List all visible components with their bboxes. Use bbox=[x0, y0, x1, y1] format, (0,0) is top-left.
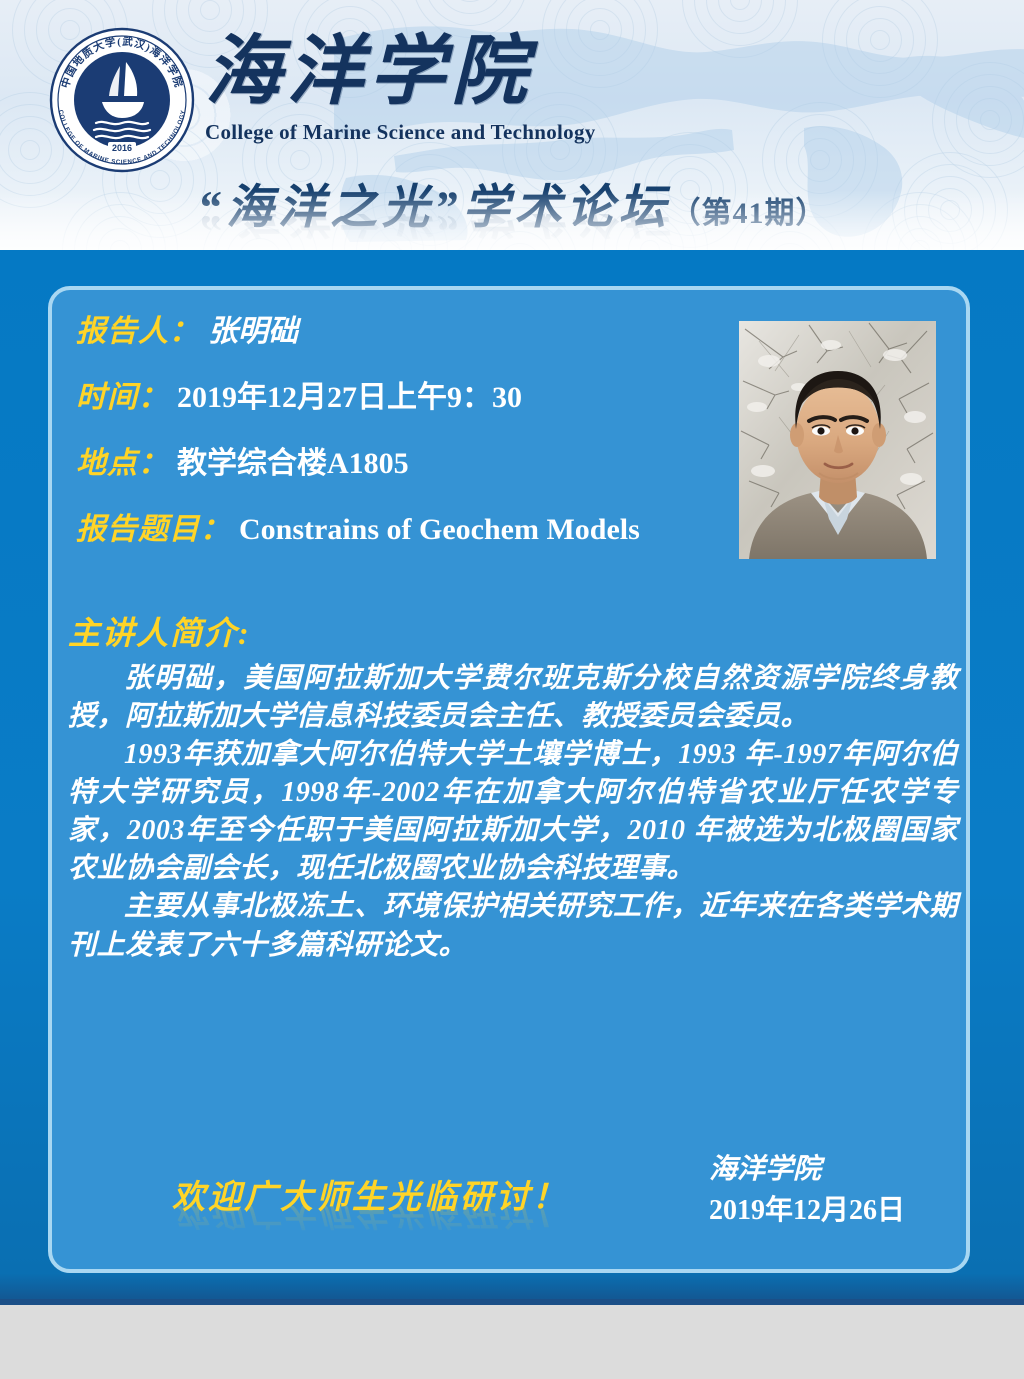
place-value: 教学综合楼A1805 bbox=[169, 438, 409, 482]
time-label: 时间： bbox=[76, 372, 169, 416]
signature-block: 海洋学院 2019年12月26日 bbox=[709, 1150, 905, 1231]
info-row-topic: 报告题目： Constrains of Geochem Models bbox=[76, 504, 716, 548]
bio-paragraph: 主要从事北极冻土、环境保护相关研究工作，近年来在各类学术期刊上发表了六十多篇科研… bbox=[68, 888, 958, 964]
header-banner: 2016 中国地质大学(武汉)海洋学院 COLLEGE OF MARINE SC… bbox=[0, 0, 1024, 250]
info-row-time: 时间： 2019年12月27日上午9：30 bbox=[76, 372, 716, 416]
banner-fade-decoration bbox=[0, 190, 1024, 250]
time-value: 2019年12月27日上午9：30 bbox=[169, 372, 522, 416]
signature-org: 海洋学院 bbox=[709, 1150, 905, 1191]
university-emblem-logo: 2016 中国地质大学(武汉)海洋学院 COLLEGE OF MARINE SC… bbox=[48, 26, 196, 174]
event-info-block: 报告人： 张明础 时间： 2019年12月27日上午9：30 地点： 教学综合楼… bbox=[76, 306, 716, 570]
seminar-poster: 2016 中国地质大学(武汉)海洋学院 COLLEGE OF MARINE SC… bbox=[0, 0, 1024, 1379]
speaker-label: 报告人： bbox=[76, 306, 200, 350]
logo-name-cn: 海洋学院 bbox=[205, 34, 685, 110]
content-panel: 报告人： 张明础 时间： 2019年12月27日上午9：30 地点： 教学综合楼… bbox=[48, 286, 970, 1273]
bio-paragraph: 1993年获加拿大阿尔伯特大学土壤学博士，1993 年-1997年阿尔伯特大学研… bbox=[68, 736, 958, 888]
logo-name-en: College of Marine Science and Technology bbox=[205, 120, 685, 145]
logo-wordmark: 海洋学院 College of Marine Science and Techn… bbox=[205, 34, 685, 145]
speaker-portrait-photo bbox=[739, 321, 936, 559]
speaker-value: 张明础 bbox=[200, 306, 298, 350]
bio-paragraph: 张明础，美国阿拉斯加大学费尔班克斯分校自然资源学院终身教授，阿拉斯加大学信息科技… bbox=[68, 660, 958, 736]
topic-label: 报告题目： bbox=[76, 504, 231, 548]
place-label: 地点： bbox=[76, 438, 169, 482]
footer-gray-area bbox=[0, 1305, 1024, 1379]
topic-value: Constrains of Geochem Models bbox=[231, 513, 640, 547]
info-row-place: 地点： 教学综合楼A1805 bbox=[76, 438, 716, 482]
speaker-bio-block: 主讲人简介: 张明础，美国阿拉斯加大学费尔班克斯分校自然资源学院终身教授，阿拉斯… bbox=[68, 608, 958, 965]
welcome-message: 欢迎广大师生光临研讨！ bbox=[172, 1170, 568, 1218]
bio-heading: 主讲人简介: bbox=[68, 608, 958, 654]
emblem-year: 2016 bbox=[112, 143, 132, 153]
info-row-speaker: 报告人： 张明础 bbox=[76, 306, 716, 350]
signature-date: 2019年12月26日 bbox=[709, 1191, 905, 1232]
